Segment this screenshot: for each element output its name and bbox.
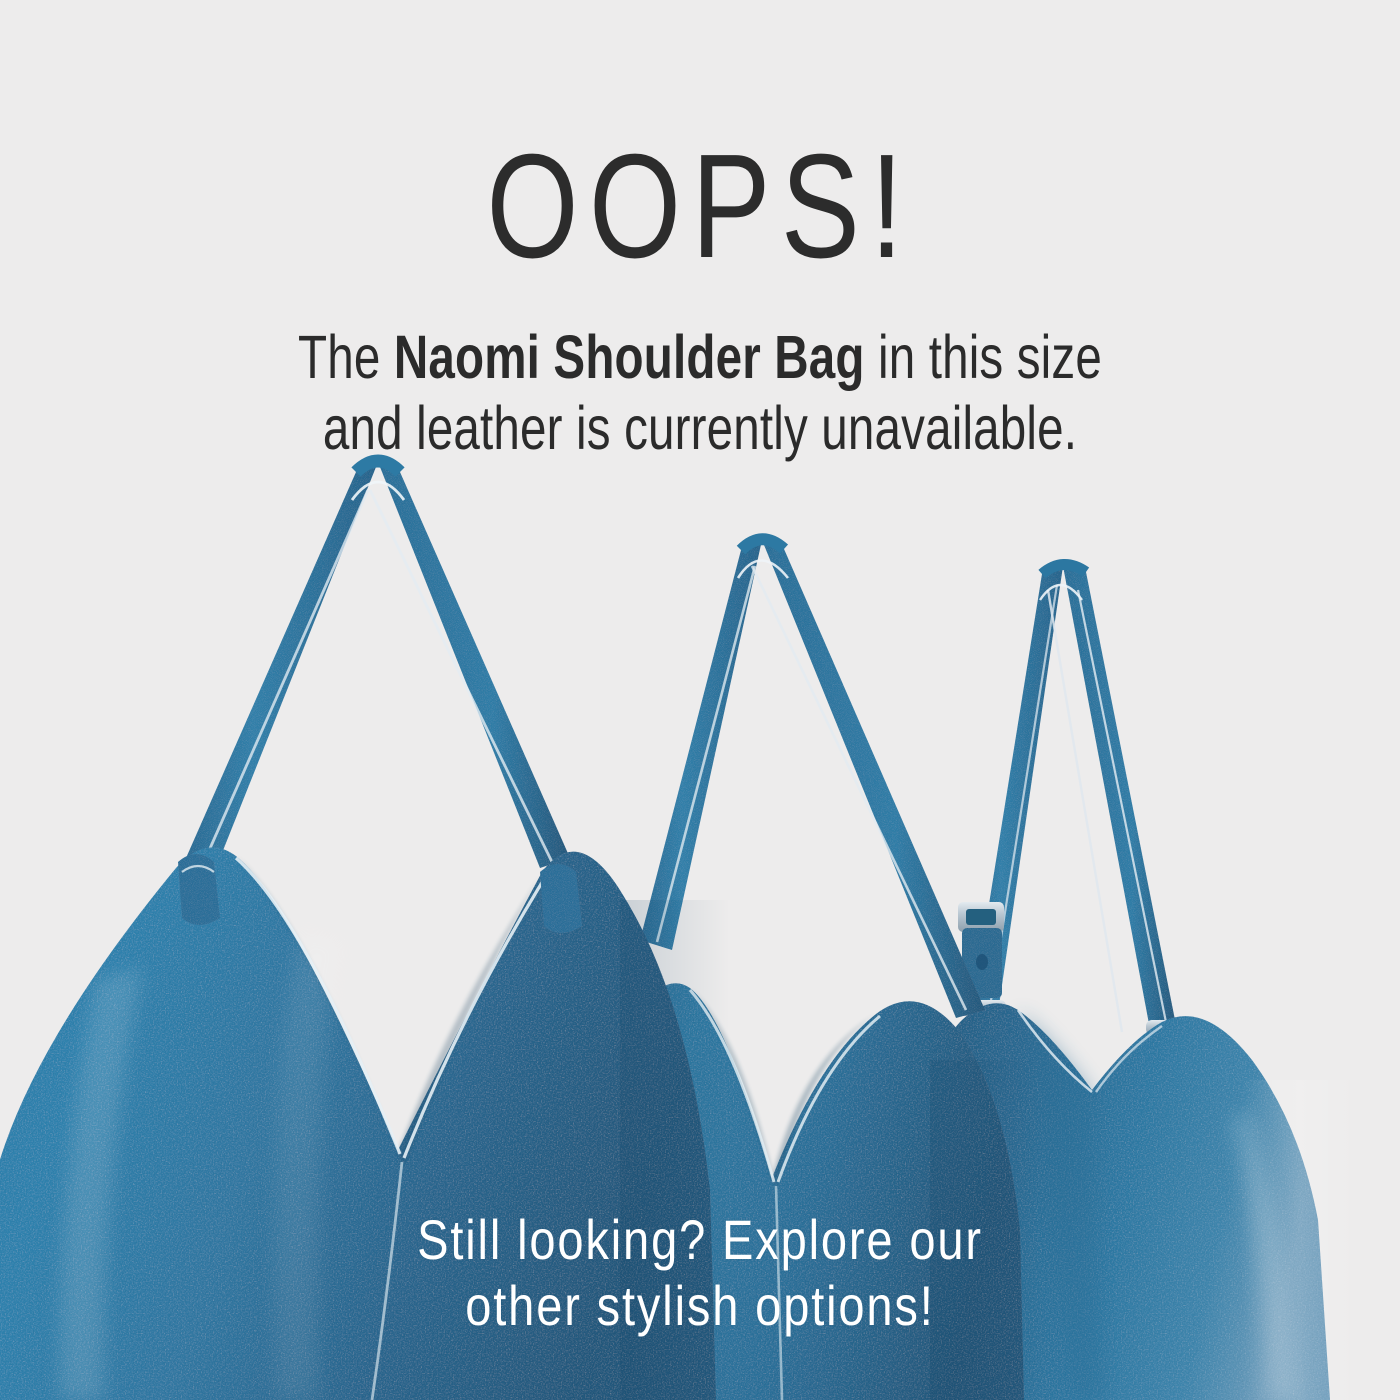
- product-name: Naomi Shoulder Bag: [394, 323, 865, 391]
- message-suffix: in this size: [865, 323, 1102, 391]
- message-prefix: The: [298, 323, 394, 391]
- explore-callout-line2: other stylish options!: [213, 1273, 1187, 1339]
- message-line2: and leather is currently unavailable.: [323, 394, 1077, 462]
- error-page-canvas: OOPS! The Naomi Shoulder Bag in this siz…: [0, 0, 1400, 1400]
- page-title: OOPS!: [140, 133, 1260, 281]
- unavailable-message: The Naomi Shoulder Bag in this size and …: [240, 322, 1160, 465]
- explore-callout-line1: Still looking? Explore our: [213, 1207, 1187, 1273]
- explore-callout[interactable]: Still looking? Explore our other stylish…: [213, 1207, 1187, 1339]
